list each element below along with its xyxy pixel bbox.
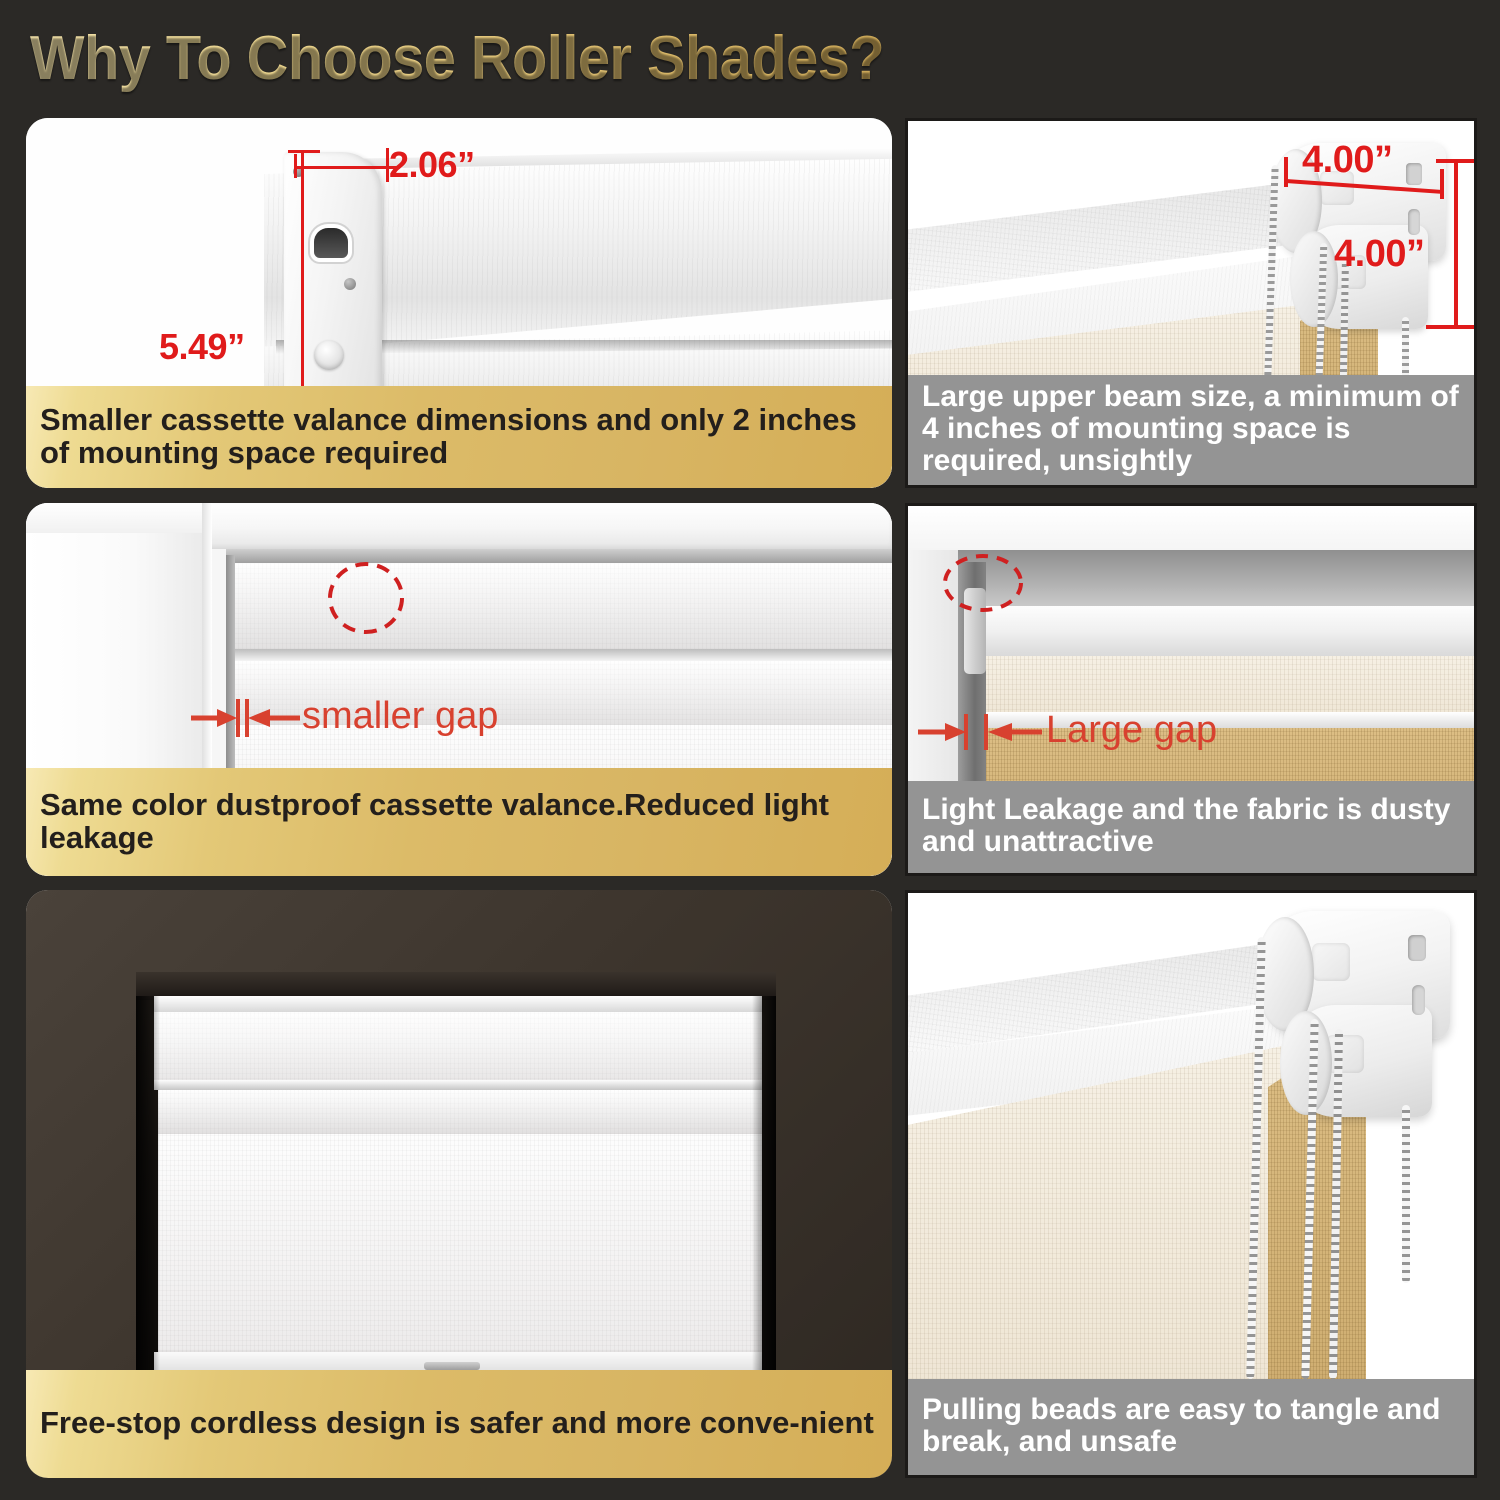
panel-1-smaller-cassette: 2.06” 5.49” Smaller cassette valance dim…	[26, 118, 892, 488]
bracket-emboss-a	[1312, 943, 1350, 981]
panel-2-large-beam: 4.00” 4.00” Large upper beam size, a min…	[905, 118, 1477, 488]
gap-arrow-right-icon	[248, 706, 300, 730]
panel-2-caption-text: Large upper beam size, a minimum of 4 in…	[922, 381, 1460, 477]
panel-5-cordless-design: Free-stop cordless design is safer and m…	[26, 890, 892, 1478]
gap-arrow-right-icon	[988, 720, 1042, 744]
smaller-gap-label: smaller gap	[302, 695, 498, 738]
bracket-slot-a	[1406, 163, 1422, 185]
end-cap-screw-mid	[344, 278, 356, 290]
panel-6-caption-text: Pulling beads are easy to tangle and bre…	[922, 1394, 1460, 1458]
panel-1-caption-text: Smaller cassette valance dimensions and …	[40, 403, 878, 469]
wall-band	[908, 506, 1474, 554]
height-dim-tick-top	[288, 150, 320, 153]
gap-arrow-left-icon	[918, 720, 966, 744]
beam-width-tick-left	[1284, 157, 1288, 187]
panel-5-caption-bar: Free-stop cordless design is safer and m…	[26, 1370, 892, 1478]
panel-3-caption-text: Same color dustproof cassette valance.Re…	[40, 788, 878, 854]
panel-4-caption-text: Light Leakage and the fabric is dusty an…	[922, 794, 1460, 858]
end-cap-slot	[314, 228, 348, 258]
cassette-valance-gloss	[154, 1012, 762, 1084]
panel-1-caption-bar: Smaller cassette valance dimensions and …	[26, 386, 892, 488]
page-title: Why To Choose Roller Shades?	[30, 20, 1146, 98]
shade-head-rail	[154, 996, 762, 1012]
panel-6-pulling-beads: Pulling beads are easy to tangle and bre…	[905, 890, 1477, 1478]
width-dim-line	[294, 166, 400, 169]
valance-end-cap	[284, 152, 382, 414]
height-dim-label: 5.49”	[159, 326, 245, 368]
header-rail-gray	[956, 550, 1474, 612]
infographic-root: Why To Choose Roller Shades?	[0, 0, 1500, 1500]
end-cap-pin	[314, 340, 344, 370]
annotation-circle-icon	[326, 558, 406, 638]
bottom-rail-grip	[424, 1362, 480, 1370]
beam-height-dim-label: 4.00”	[1334, 233, 1424, 276]
panel-4-caption-bar: Light Leakage and the fabric is dusty an…	[908, 781, 1474, 873]
roller-end-disc-lower	[1280, 1011, 1332, 1115]
valance-bottom-lip	[154, 1080, 762, 1090]
beam-height-tick-top	[1436, 159, 1474, 163]
bracket-slot-b	[1408, 209, 1420, 235]
beam-width-dim-label: 4.00”	[1302, 139, 1392, 182]
valance-lower-band-gloss	[158, 1090, 762, 1134]
bracket-slot-a	[1408, 935, 1426, 961]
valance-gap-shadow	[226, 649, 892, 661]
beam-height-dim-line	[1454, 159, 1458, 329]
shade-fabric-main	[158, 1134, 762, 1366]
panel-3-caption-bar: Same color dustproof cassette valance.Re…	[26, 768, 892, 876]
gap-arrow-left-icon	[191, 706, 237, 730]
annotation-circle-icon	[942, 552, 1024, 614]
width-dim-label: 2.06”	[389, 144, 475, 186]
panel-3-smaller-gap: smaller gap Same color dustproof cassett…	[26, 503, 892, 876]
white-beam	[956, 606, 1474, 662]
bead-chain-4	[1402, 1105, 1410, 1283]
window-inner-casing	[206, 503, 892, 549]
panel-2-caption-bar: Large upper beam size, a minimum of 4 in…	[908, 375, 1474, 485]
roller-end-disc-lower	[1290, 231, 1338, 327]
large-gap-label: Large gap	[1046, 709, 1217, 752]
panel-5-caption-text: Free-stop cordless design is safer and m…	[40, 1406, 874, 1439]
bracket-slot-b	[1412, 985, 1425, 1015]
width-dim-tick-left	[294, 154, 297, 178]
beam-height-tick-bottom	[1426, 325, 1474, 329]
panel-4-large-gap: Large gap Light Leakage and the fabric i…	[905, 503, 1477, 876]
panel-6-caption-bar: Pulling beads are easy to tangle and bre…	[908, 1379, 1474, 1475]
beam-width-tick-right	[1440, 169, 1444, 199]
